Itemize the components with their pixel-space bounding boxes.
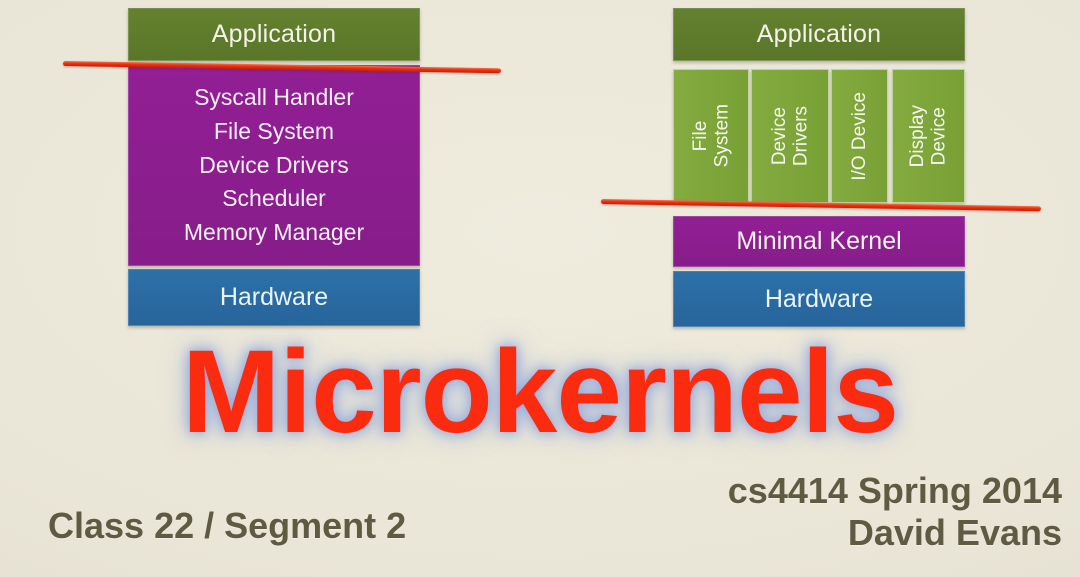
left-kernel-box[interactable]: Syscall Handler File System Device Drive… — [128, 65, 420, 266]
server-label-line1: I/O Device — [849, 92, 870, 181]
diagram-microkernel: Application File System Device Drivers I… — [673, 8, 965, 327]
course-credit-block: cs4414 Spring 2014 David Evans — [728, 470, 1062, 555]
user-space-servers: File System Device Drivers I/O Device Di… — [673, 69, 965, 203]
left-application-label: Application — [212, 20, 337, 49]
right-minimal-kernel-label: Minimal Kernel — [736, 227, 901, 256]
page-title: Microkernels — [0, 333, 1080, 451]
server-display-device-label: Display Device — [907, 105, 950, 167]
kernel-service-item: Scheduler — [222, 182, 326, 216]
server-device-drivers-label: Device Drivers — [769, 106, 812, 166]
left-application-box[interactable]: Application — [128, 8, 420, 61]
right-minimal-kernel-box[interactable]: Minimal Kernel — [673, 216, 965, 267]
server-label-line2: System — [711, 104, 732, 167]
server-label-line1: File — [690, 121, 711, 152]
server-label-line1: Display — [907, 105, 928, 167]
right-application-label: Application — [757, 20, 882, 49]
class-segment-label: Class 22 / Segment 2 — [48, 505, 406, 547]
kernel-service-item: Device Drivers — [199, 149, 349, 183]
server-label-line1: Device — [769, 107, 790, 165]
left-kernel-service-list: Syscall Handler File System Device Drive… — [129, 81, 419, 250]
left-hardware-box[interactable]: Hardware — [128, 269, 420, 326]
diagram-monolithic-kernel: Application Syscall Handler File System … — [128, 8, 420, 326]
server-display-device[interactable]: Display Device — [892, 69, 965, 203]
server-label-line2: Device — [929, 105, 950, 167]
course-label: cs4414 Spring 2014 — [728, 470, 1062, 512]
server-io-device-label: I/O Device — [849, 92, 870, 181]
right-application-box[interactable]: Application — [673, 8, 965, 61]
kernel-service-item: File System — [214, 115, 334, 149]
right-hardware-label: Hardware — [765, 285, 873, 314]
server-label-line2: Drivers — [790, 106, 811, 166]
server-file-system[interactable]: File System — [673, 69, 749, 203]
server-device-drivers[interactable]: Device Drivers — [751, 69, 829, 203]
kernel-service-item: Syscall Handler — [194, 81, 354, 115]
server-io-device[interactable]: I/O Device — [831, 69, 888, 203]
slide-canvas: Application Syscall Handler File System … — [0, 0, 1080, 577]
server-file-system-label: File System — [690, 104, 733, 167]
left-hardware-label: Hardware — [220, 283, 328, 312]
instructor-label: David Evans — [728, 512, 1062, 554]
right-hardware-box[interactable]: Hardware — [673, 271, 965, 327]
kernel-service-item: Memory Manager — [184, 216, 364, 250]
